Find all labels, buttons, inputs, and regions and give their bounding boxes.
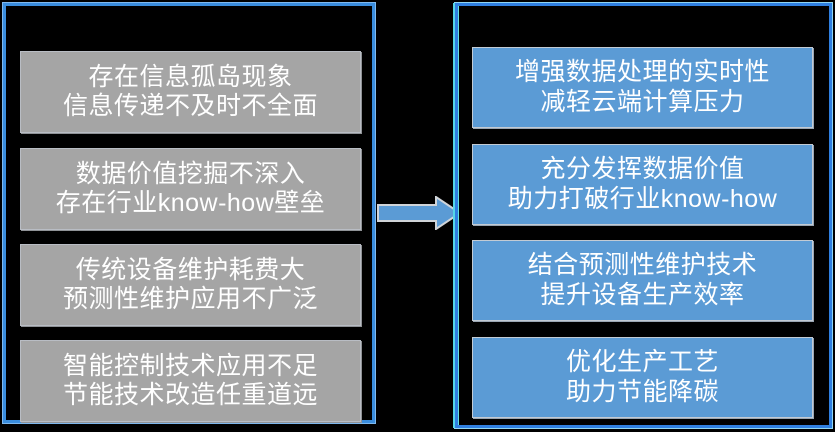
pain-point-box-1-line-2: 信息传递不及时不全面 xyxy=(63,92,318,122)
pain-point-box-3[interactable]: 传统设备维护耗费大 预测性维护应用不广泛 xyxy=(20,244,361,326)
pain-point-box-4-line-1: 智能控制技术应用不足 xyxy=(63,352,318,382)
benefit-box-2-line-2: 助力打破行业know-how xyxy=(508,185,778,215)
pain-point-box-2-line-1: 数据价值挖掘不深入 xyxy=(76,160,306,190)
right-arrow-icon xyxy=(377,196,461,230)
benefit-box-3-line-2: 提升设备生产效率 xyxy=(540,281,744,311)
benefit-box-2-line-1: 充分发挥数据价值 xyxy=(540,155,744,185)
benefit-box-4[interactable]: 优化生产工艺 助力节能降碳 xyxy=(472,337,813,418)
pain-point-box-1[interactable]: 存在信息孤岛现象 信息传递不及时不全面 xyxy=(20,51,361,133)
pain-point-box-2-line-2: 存在行业know-how壁垒 xyxy=(56,189,326,219)
benefit-box-3-line-1: 结合预测性维护技术 xyxy=(528,251,758,281)
benefit-box-1-line-2: 减轻云端计算压力 xyxy=(540,88,744,118)
diagram-canvas: 存在信息孤岛现象 信息传递不及时不全面 数据价值挖掘不深入 存在行业know-h… xyxy=(0,0,835,432)
pain-point-box-2[interactable]: 数据价值挖掘不深入 存在行业know-how壁垒 xyxy=(20,148,361,230)
pain-point-box-3-line-2: 预测性维护应用不广泛 xyxy=(63,285,318,315)
benefit-box-2[interactable]: 充分发挥数据价值 助力打破行业know-how xyxy=(472,144,813,225)
pain-point-box-4[interactable]: 智能控制技术应用不足 节能技术改造任重道远 xyxy=(20,340,361,422)
benefits-panel: 增强数据处理的实时性 减轻云端计算压力 充分发挥数据价值 助力打破行业know-… xyxy=(455,3,832,428)
pain-point-box-3-line-1: 传统设备维护耗费大 xyxy=(76,256,306,286)
pain-points-panel: 存在信息孤岛现象 信息传递不及时不全面 数据价值挖掘不深入 存在行业know-h… xyxy=(3,3,375,423)
benefit-box-1[interactable]: 增强数据处理的实时性 减轻云端计算压力 xyxy=(472,47,813,128)
benefit-box-4-line-1: 优化生产工艺 xyxy=(566,348,719,378)
pain-point-box-1-line-1: 存在信息孤岛现象 xyxy=(88,63,292,93)
benefit-box-4-line-2: 助力节能降碳 xyxy=(566,378,719,408)
benefit-box-1-line-1: 增强数据处理的实时性 xyxy=(515,58,770,88)
pain-point-box-4-line-2: 节能技术改造任重道远 xyxy=(63,381,318,411)
benefit-box-3[interactable]: 结合预测性维护技术 提升设备生产效率 xyxy=(472,240,813,321)
